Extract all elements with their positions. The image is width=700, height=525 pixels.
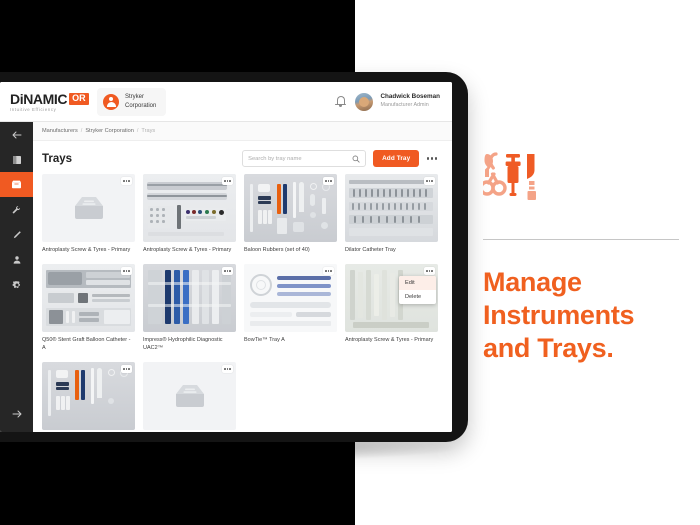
tray-card-menu-icon[interactable] (121, 177, 132, 185)
search-input[interactable] (248, 156, 352, 162)
search-box[interactable] (242, 150, 366, 167)
promo-headline: Manage Instruments and Trays. (483, 266, 683, 365)
tray-card[interactable] (42, 362, 135, 432)
sidebar-item-collapse-nav[interactable] (0, 122, 33, 147)
tray-card[interactable]: Impress® Hydrophilic Diagnostic UAC2™ (143, 264, 236, 353)
tray-card[interactable]: Q50® Stent Graft Balloon Catheter -A (42, 264, 135, 353)
sidebar-item-instruments[interactable] (0, 197, 33, 222)
sidebar-item-users[interactable] (0, 247, 33, 272)
application-window: DiNAMIC OR Intuitive Efficiency Stryker … (0, 82, 452, 432)
tray-card-menu-icon[interactable] (424, 267, 435, 275)
breadcrumb-item-0[interactable]: Manufacturers (42, 128, 78, 134)
screenshot-stage: DiNAMIC OR Intuitive Efficiency Stryker … (0, 0, 700, 525)
tray-card[interactable] (143, 362, 236, 432)
tablet-screen: DiNAMIC OR Intuitive Efficiency Stryker … (0, 82, 452, 432)
tray-card[interactable]: Dilator Catheter Tray (345, 174, 438, 255)
tray-card-label: Dilator Catheter Tray (345, 247, 438, 255)
page-title: Trays (42, 153, 72, 165)
tray-thumbnail[interactable] (143, 264, 236, 332)
org-name-line1: Stryker (125, 93, 156, 101)
tray-card-label: Baloon Rubbers (set of 40) (244, 247, 337, 255)
breadcrumb-separator-1: / (137, 128, 139, 134)
context-menu-item-delete[interactable]: Delete (399, 290, 436, 304)
logo-wordmark: DiNAMIC (10, 92, 67, 106)
tray-card-menu-icon[interactable] (222, 177, 233, 185)
tray-card-label: Antroplasty Screw & Tyres - Primary (143, 247, 236, 255)
breadcrumb-separator-0: / (81, 128, 83, 134)
main-content: Manufacturers / Stryker Corporation / Tr… (33, 122, 452, 432)
wrench-icon (12, 205, 22, 215)
add-tray-button[interactable]: Add Tray (373, 150, 419, 167)
tray-card-menu-icon[interactable] (222, 267, 233, 275)
promo-headline-line-3: and Trays. (483, 332, 683, 365)
promo-divider (483, 239, 679, 240)
org-name-line2: Corporation (125, 102, 156, 110)
forward-arrow-icon (12, 409, 22, 419)
context-menu-item-edit[interactable]: Edit (399, 276, 436, 290)
tray-grid: Antroplasty Screw & Tyres - Primary (33, 174, 452, 432)
user-name: Chadwick Boseman (381, 93, 441, 102)
promo-headline-line-2: Instruments (483, 299, 683, 332)
breadcrumb-item-1[interactable]: Stryker Corporation (85, 128, 134, 134)
tray-card[interactable]: Antroplasty Screw & Tyres - Primary (143, 174, 236, 255)
tray-context-menu: Edit Delete (399, 276, 436, 304)
tray-thumbnail[interactable] (42, 174, 135, 242)
tray-thumbnail[interactable] (42, 362, 135, 430)
tray-thumbnail[interactable] (244, 174, 337, 242)
promo-headline-line-1: Manage (483, 266, 683, 299)
page-toolbar: Add Tray (242, 150, 438, 167)
sidebar-item-expand-nav[interactable] (0, 401, 33, 426)
tray-card-menu-icon[interactable] (323, 267, 334, 275)
user-role: Manufacturer Admin (381, 102, 441, 110)
top-bar: DiNAMIC OR Intuitive Efficiency Stryker … (0, 82, 452, 122)
breadcrumb: Manufacturers / Stryker Corporation / Tr… (33, 122, 452, 141)
sidebar-item-catalog[interactable] (0, 147, 33, 172)
tray-card-label: Antroplasty Screw & Tyres - Primary (345, 337, 438, 345)
pen-icon (12, 230, 22, 240)
tray-card[interactable]: Antroplasty Screw & Tyres - Primary (42, 174, 135, 255)
tray-card-menu-icon[interactable] (222, 365, 233, 373)
search-icon[interactable] (352, 155, 360, 163)
breadcrumb-item-2: Trays (141, 128, 155, 134)
gear-icon (12, 280, 22, 290)
back-arrow-icon (12, 130, 22, 140)
bell-icon[interactable] (335, 95, 347, 108)
org-avatar-icon (103, 94, 119, 110)
top-bar-right: Chadwick Boseman Manufacturer Admin (335, 93, 453, 111)
tray-card[interactable]: Baloon Rubbers (set of 40) (244, 174, 337, 255)
logo-tagline: Intuitive Efficiency (10, 107, 85, 112)
page-header: Trays Add Tray (33, 141, 452, 174)
tray-icon (71, 194, 107, 222)
tray-thumbnail[interactable] (143, 174, 236, 242)
tray-card-menu-icon[interactable] (121, 267, 132, 275)
tray-card-menu-icon[interactable] (323, 177, 334, 185)
tray-card[interactable]: Edit Delete Antroplasty Screw & Tyres - … (345, 264, 438, 353)
tray-thumbnail[interactable] (42, 264, 135, 332)
tray-card-label: Q50® Stent Graft Balloon Catheter -A (42, 337, 135, 353)
surgical-instruments-icon (483, 152, 545, 210)
logo-badge: OR (69, 93, 89, 105)
app-logo[interactable]: DiNAMIC OR Intuitive Efficiency (0, 92, 85, 112)
tray-card-menu-icon[interactable] (424, 177, 435, 185)
book-icon (12, 155, 22, 165)
sidebar-item-settings[interactable] (0, 272, 33, 297)
page-overflow-menu-icon[interactable] (426, 154, 438, 162)
avatar[interactable] (355, 93, 373, 111)
tray-icon (11, 180, 22, 189)
tray-card-label: Impress® Hydrophilic Diagnostic UAC2™ (143, 337, 236, 353)
tray-card[interactable]: BowTie™ Tray A (244, 264, 337, 353)
tray-card-label: Antroplasty Screw & Tyres - Primary (42, 247, 135, 255)
sidebar (0, 122, 33, 432)
tray-thumbnail[interactable] (143, 362, 236, 430)
tablet-device: DiNAMIC OR Intuitive Efficiency Stryker … (0, 72, 468, 442)
tray-card-menu-icon[interactable] (121, 365, 132, 373)
tray-icon (172, 382, 208, 410)
promo-panel: Manage Instruments and Trays. (483, 152, 683, 365)
tray-thumbnail[interactable] (244, 264, 337, 332)
tray-thumbnail[interactable]: Edit Delete (345, 264, 438, 332)
sidebar-item-edit[interactable] (0, 222, 33, 247)
sidebar-item-trays[interactable] (0, 172, 33, 197)
tray-thumbnail[interactable] (345, 174, 438, 242)
person-icon (12, 255, 22, 265)
tray-card-label: BowTie™ Tray A (244, 337, 337, 345)
organization-selector[interactable]: Stryker Corporation (97, 88, 166, 116)
